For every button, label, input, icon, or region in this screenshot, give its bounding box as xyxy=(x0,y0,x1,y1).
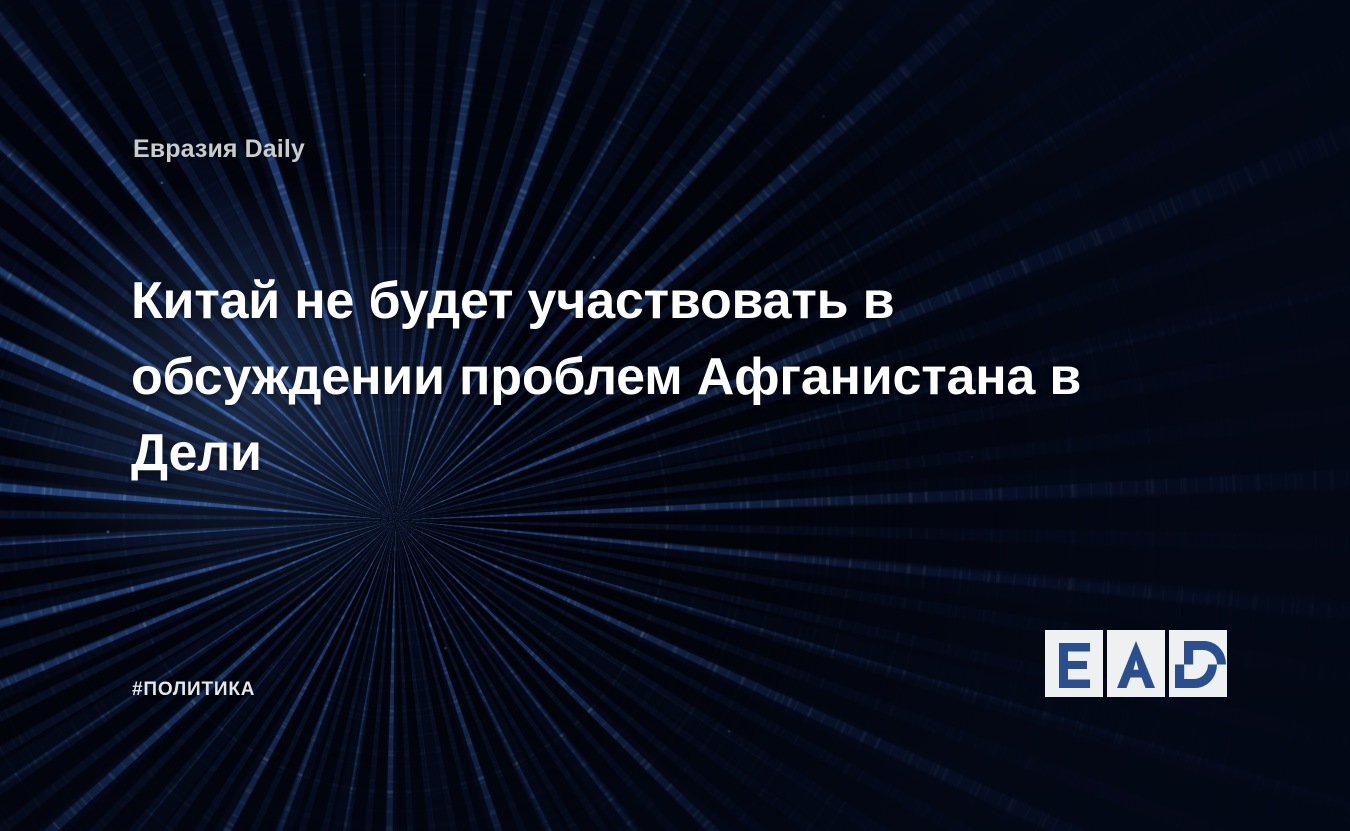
article-headline: Китай не будет участвовать в обсуждении … xyxy=(131,263,1171,491)
publication-name: Евразия Daily xyxy=(133,135,305,164)
logo-tile-a xyxy=(1107,630,1165,697)
card-content: Евразия Daily Китай не будет участвовать… xyxy=(0,0,1350,831)
logo-tile-d-split xyxy=(1169,630,1227,697)
news-share-card: Евразия Daily Китай не будет участвовать… xyxy=(0,0,1350,831)
category-hashtag: #ПОЛИТИКА xyxy=(132,679,255,701)
eadaily-logo[interactable] xyxy=(1045,630,1227,697)
logo-tile-e xyxy=(1045,630,1103,697)
